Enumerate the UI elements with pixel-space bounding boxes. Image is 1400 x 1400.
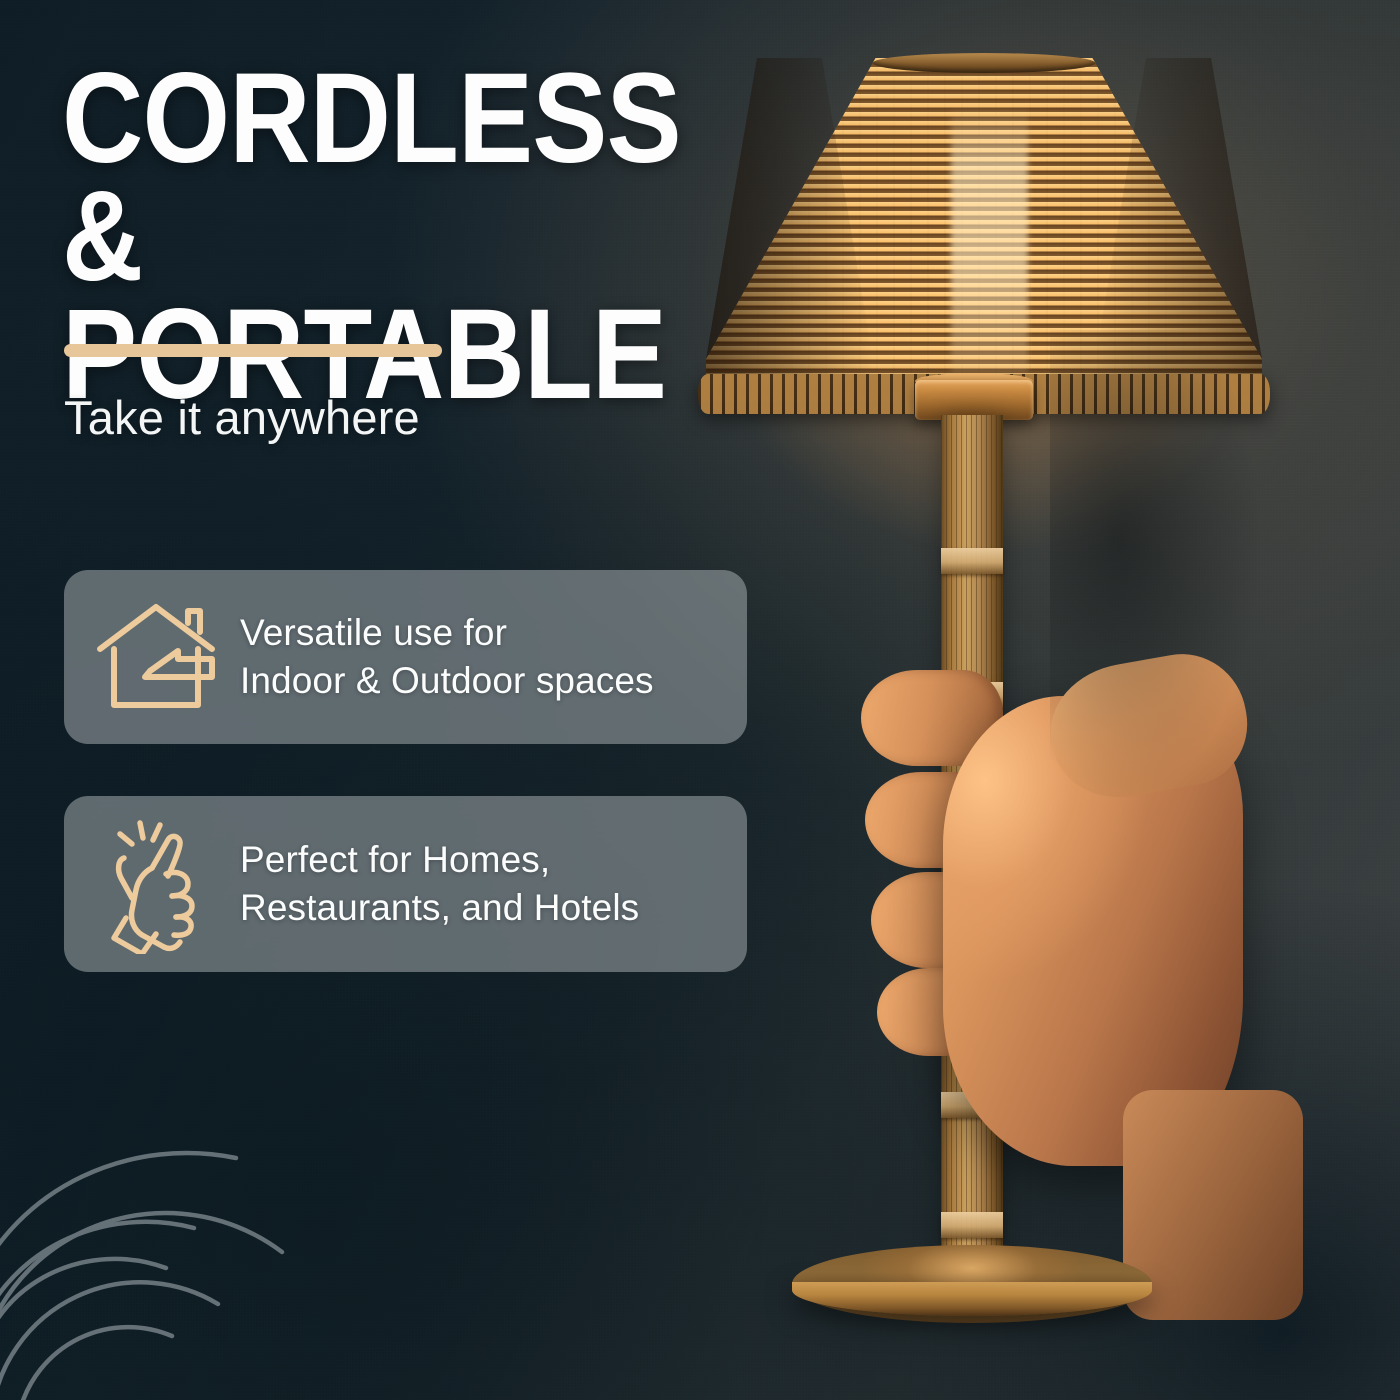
concentric-arcs-decoration — [0, 1142, 386, 1400]
promo-image: CORDLESS & PORTABLE Take it anywhere Ver… — [0, 0, 1400, 1400]
page-subtitle: Take it anywhere — [64, 390, 420, 445]
feature-card-text: Perfect for Homes, Restaurants, and Hote… — [240, 836, 639, 932]
woven-rattan-cone-shade — [706, 58, 1262, 400]
feature-card-venues: Perfect for Homes, Restaurants, and Hote… — [64, 796, 747, 972]
shade-top-cap — [873, 53, 1095, 73]
feature-card-text: Versatile use for Indoor & Outdoor space… — [240, 609, 654, 705]
page-title: CORDLESS & PORTABLE — [62, 60, 696, 413]
shade-light-core — [951, 106, 1029, 373]
house-with-arrow-icon — [96, 601, 220, 713]
brass-collar — [915, 380, 1033, 420]
hand-holding-lamp — [855, 660, 1285, 1300]
bamboo-node — [941, 548, 1003, 574]
feature-card-indoor-outdoor: Versatile use for Indoor & Outdoor space… — [64, 570, 747, 744]
accent-divider — [64, 344, 442, 357]
pointing-hand-icon — [102, 814, 214, 954]
